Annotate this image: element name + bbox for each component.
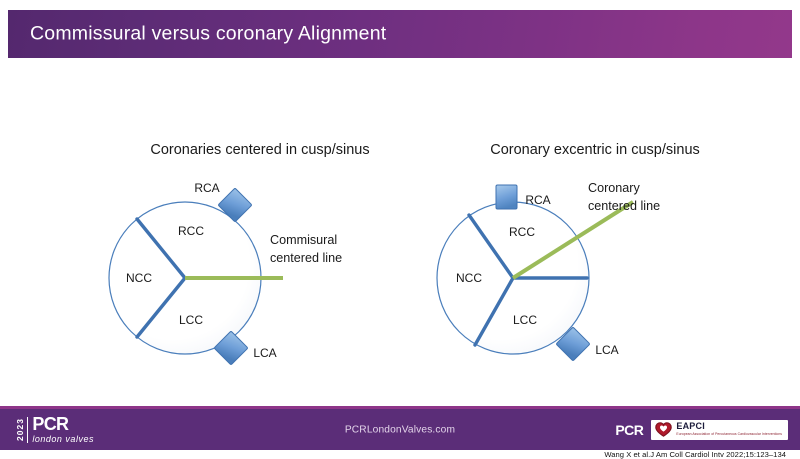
cusp-label-ncc: NCC — [126, 271, 152, 285]
logo-london-valves-text: london valves — [32, 435, 94, 444]
eapci-heart-icon — [655, 422, 672, 437]
pcr-mark-text: PCR — [615, 423, 643, 437]
citation-reference: Wang X et al.J Am Coll Cardiol Intv 2022… — [604, 450, 786, 459]
ostium-label-rca: RCA — [525, 193, 550, 207]
eapci-text-block: EAPCI European Association of Percutaneo… — [676, 422, 782, 436]
cusp-label-ncc: NCC — [456, 271, 482, 285]
panel-right-heading: Coronary excentric in cusp/sinus — [430, 142, 760, 158]
ostium-label-lca: LCA — [595, 343, 618, 357]
panel-coronaries-centered: Coronaries centered in cusp/sinus — [95, 58, 455, 403]
footer-partner-logos: PCR EAPCI European Association of Percut… — [615, 420, 788, 440]
callout-right-line1: Coronary — [588, 180, 660, 198]
rca-ostium-marker — [496, 185, 517, 209]
eapci-name: EAPCI — [676, 422, 782, 431]
slide-title-bar: Commissural versus coronary Alignment — [8, 10, 792, 58]
cusp-label-rcc: RCC — [509, 225, 535, 239]
footer-bar: 2023 PCR london valves PCRLondonValves.c… — [0, 409, 800, 450]
panel-coronary-excentric: Coronary excentric in cusp/sinus — [425, 58, 785, 403]
callout-right-line2: centered line — [588, 198, 660, 216]
cusp-label-rcc: RCC — [178, 224, 204, 238]
aortic-valve-diagram-left: NCC RCC LCC RCA LCA — [95, 168, 455, 403]
callout-left-line2: centered line — [270, 250, 342, 268]
callout-coronary-centered-line: Coronary centered line — [588, 180, 660, 216]
panel-left-heading: Coronaries centered in cusp/sinus — [95, 142, 425, 158]
callout-commissural-centered-line: Commisural centered line — [270, 232, 342, 268]
eapci-badge: EAPCI European Association of Percutaneo… — [651, 420, 788, 440]
cusp-label-lcc: LCC — [179, 313, 203, 327]
slide-body: Coronaries centered in cusp/sinus — [0, 58, 800, 403]
eapci-subtitle: European Association of Percutaneous Car… — [676, 433, 782, 437]
ostium-label-lca: LCA — [253, 346, 276, 360]
page-title: Commissural versus coronary Alignment — [30, 23, 386, 46]
callout-left-line1: Commisural — [270, 232, 342, 250]
ostium-label-rca: RCA — [194, 181, 219, 195]
cusp-label-lcc: LCC — [513, 313, 537, 327]
